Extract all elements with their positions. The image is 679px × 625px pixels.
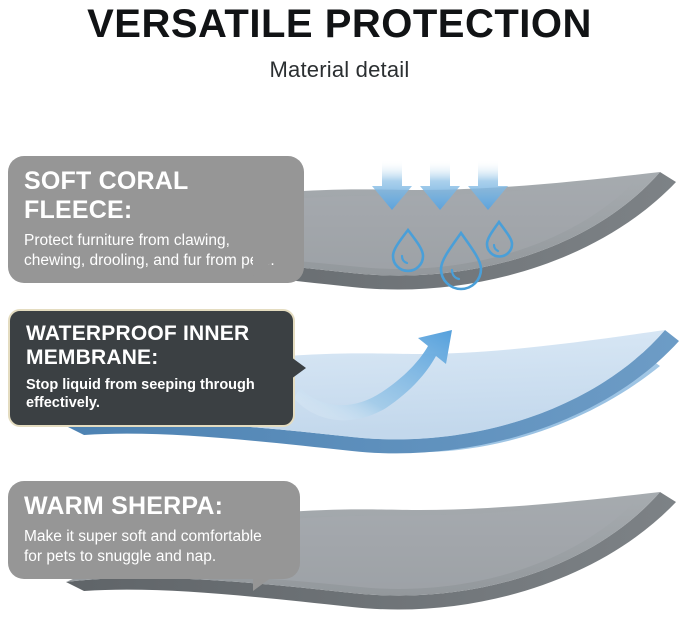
water-droplet-icon	[441, 233, 481, 289]
water-swoosh	[280, 352, 660, 452]
water-droplet-icon	[487, 222, 512, 257]
callout-heading-membrane: WATERPROOF INNER MEMBRANE:	[26, 322, 277, 370]
page-title: VERSATILE PROTECTION	[0, 0, 679, 46]
arrow-down-icon-group	[372, 160, 508, 210]
water-droplet-icon	[393, 230, 423, 271]
arrow-down-icon	[372, 160, 412, 210]
callout-heading-sherpa: WARM SHERPA:	[24, 492, 284, 521]
arrow-down-icon	[468, 160, 508, 210]
callout-heading-fleece: SOFT CORAL FLEECE:	[24, 167, 288, 225]
page-subtitle: Material detail	[0, 46, 679, 83]
callout-tail-fleece	[253, 254, 283, 276]
callout-soft-coral-fleece[interactable]: SOFT CORAL FLEECE: Protect furniture fro…	[8, 156, 304, 283]
arrow-down-icon	[420, 160, 460, 210]
arrow-up-curved-icon	[294, 330, 452, 420]
header: VERSATILE PROTECTION Material detail	[0, 0, 679, 83]
callout-body-fleece: Protect furniture from clawing, chewing,…	[24, 225, 288, 270]
callout-body-sherpa: Make it super soft and comfortable for p…	[24, 521, 284, 566]
callout-tail-sherpa	[253, 569, 283, 591]
callout-tail-membrane	[291, 357, 306, 379]
infographic-root: VERSATILE PROTECTION Material detail	[0, 0, 679, 625]
water-droplet-icon-group	[393, 222, 512, 289]
callout-warm-sherpa[interactable]: WARM SHERPA: Make it super soft and comf…	[8, 481, 300, 579]
callout-body-membrane: Stop liquid from seeping through effecti…	[26, 370, 277, 412]
callout-waterproof-inner-membrane[interactable]: WATERPROOF INNER MEMBRANE: Stop liquid f…	[8, 309, 295, 427]
